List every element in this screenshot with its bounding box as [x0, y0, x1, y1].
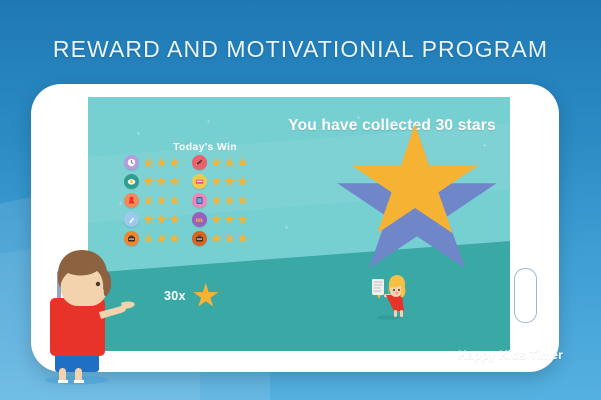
shoes-icon: [192, 212, 207, 227]
task-star-rating: [211, 176, 248, 187]
star-icon: [211, 233, 222, 244]
task-star-rating: [211, 157, 248, 168]
star-icon: [169, 176, 180, 187]
star-icon: [169, 214, 180, 225]
phone-screen: You have collected 30 stars Today's Win …: [88, 97, 510, 351]
reward-task-row[interactable]: [192, 174, 248, 189]
toothbrush-icon: [124, 212, 139, 227]
star-icon: [211, 157, 222, 168]
schoolbag-icon: [192, 231, 207, 246]
star-icon: [237, 176, 248, 187]
task-star-rating: [143, 233, 180, 244]
comb-icon: [192, 155, 207, 170]
star-icon: [193, 283, 219, 309]
book-icon: [192, 193, 207, 208]
boy-pointing: [25, 240, 145, 385]
star-icon: [156, 157, 167, 168]
girl-with-checklist: [364, 265, 412, 320]
reward-grid: [124, 155, 248, 246]
star-icon: [224, 176, 235, 187]
star-icon: [156, 233, 167, 244]
task-star-rating: [143, 195, 180, 206]
task-star-rating: [143, 214, 180, 225]
star-icon: [237, 157, 248, 168]
reward-task-row[interactable]: [124, 174, 180, 189]
star-icon: [237, 195, 248, 206]
star-icon: [237, 233, 248, 244]
star-icon: [224, 233, 235, 244]
star-icon: [143, 195, 154, 206]
star-icon: [143, 214, 154, 225]
task-star-rating: [143, 157, 180, 168]
star-counter: 30x: [164, 283, 219, 309]
star-icon: [169, 157, 180, 168]
poster-stage: REWARD AND MOTIVATIONIAL PROGRAM You hav…: [0, 0, 601, 400]
star-icon: [211, 214, 222, 225]
task-star-rating: [211, 214, 248, 225]
star-icon: [211, 195, 222, 206]
star-icon: [143, 176, 154, 187]
reward-task-row[interactable]: [192, 231, 248, 246]
star-counter-label: 30x: [164, 289, 186, 303]
star-icon: [156, 195, 167, 206]
task-star-rating: [211, 195, 248, 206]
brand-label: Happy Kids Timer: [458, 348, 563, 362]
reward-task-row[interactable]: [192, 193, 248, 208]
reward-task-row[interactable]: [192, 212, 248, 227]
star-icon: [211, 176, 222, 187]
star-icon: [169, 233, 180, 244]
reward-task-row[interactable]: [124, 212, 180, 227]
reward-task-row[interactable]: [192, 155, 248, 170]
star-icon: [156, 176, 167, 187]
star-icon: [224, 157, 235, 168]
dress-icon: [124, 193, 139, 208]
star-icon: [169, 195, 180, 206]
star-icon: [143, 157, 154, 168]
lunchbox-icon: [192, 174, 207, 189]
star-icon: [224, 214, 235, 225]
breakfast-icon: [124, 174, 139, 189]
page-title: REWARD AND MOTIVATIONIAL PROGRAM: [0, 36, 601, 63]
star-icon: [156, 214, 167, 225]
clock-icon: [124, 155, 139, 170]
big-star-graphic: [328, 124, 500, 284]
home-button[interactable]: [514, 268, 537, 323]
star-icon: [224, 195, 235, 206]
reward-task-row[interactable]: [124, 155, 180, 170]
section-title-todays-win: Today's Win: [140, 141, 270, 153]
task-star-rating: [143, 176, 180, 187]
task-star-rating: [211, 233, 248, 244]
star-icon: [237, 214, 248, 225]
reward-task-row[interactable]: [124, 193, 180, 208]
